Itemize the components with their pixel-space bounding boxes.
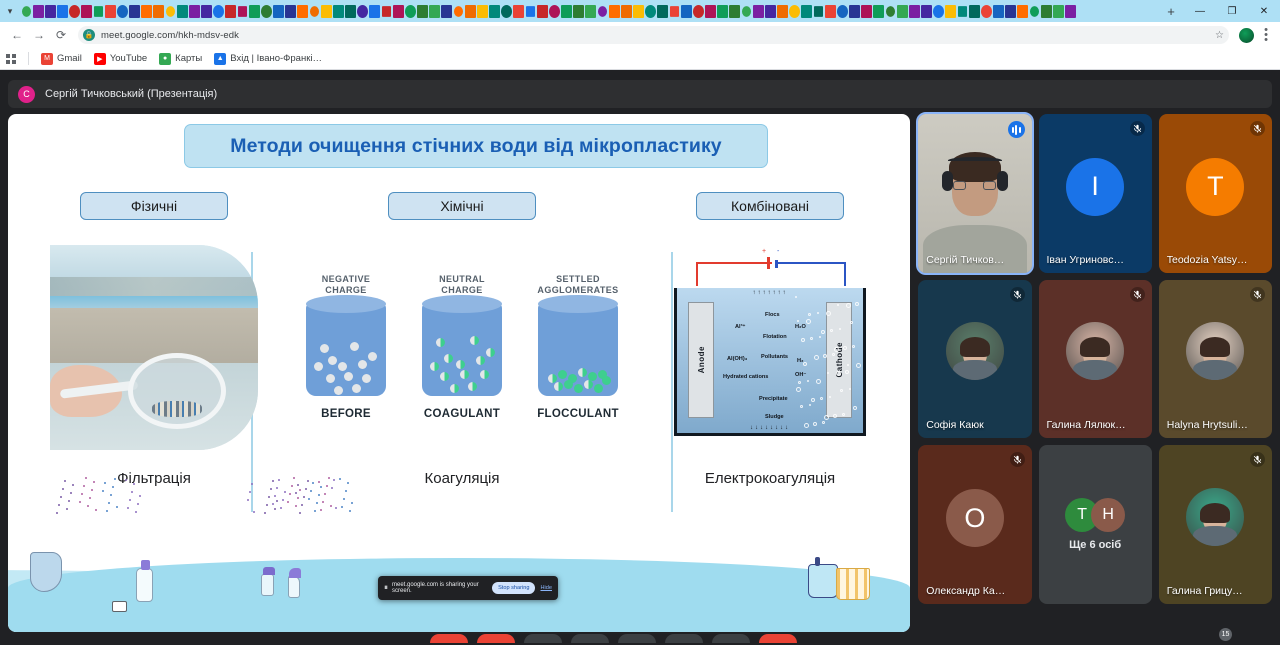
- tab-favicon[interactable]: [645, 5, 656, 18]
- bookmark-youtube[interactable]: ▶ YouTube: [94, 53, 147, 65]
- google-meet-app: С Сергій Тичковський (Презентація) Метод…: [0, 70, 1280, 643]
- bubble: [836, 371, 841, 376]
- sieve-illustration: [128, 353, 226, 429]
- up-arrows: ↑↑↑↑↑↑↑: [677, 290, 863, 296]
- raise-hand-button[interactable]: [665, 634, 703, 643]
- minimize-button[interactable]: —: [1184, 6, 1216, 17]
- captions-button[interactable]: [524, 634, 562, 643]
- tab-favicon[interactable]: [549, 5, 560, 18]
- particle: [470, 336, 479, 345]
- tab-favicon[interactable]: [633, 5, 644, 18]
- bookmark-label: YouTube: [110, 53, 147, 64]
- tab-favicon[interactable]: [141, 5, 152, 18]
- tab-favicon[interactable]: [873, 5, 884, 18]
- tab-favicon[interactable]: [933, 5, 944, 18]
- bubble: [798, 381, 801, 384]
- particle: [430, 362, 439, 371]
- tab-favicon[interactable]: [729, 5, 740, 18]
- tab-favicon[interactable]: [670, 6, 679, 17]
- particle: [468, 382, 477, 391]
- chem-label: Al(OH)₃: [727, 356, 747, 362]
- beaker-bottom-label: FLOCCULANT: [532, 408, 624, 420]
- tab-favicon[interactable]: [814, 6, 823, 17]
- reload-icon[interactable]: ⟳: [50, 24, 72, 46]
- particle: [440, 372, 449, 381]
- tab-favicon[interactable]: [742, 6, 751, 17]
- chem-label: Al³⁺: [735, 324, 745, 330]
- particle: [368, 352, 377, 361]
- tab-favicon[interactable]: [573, 5, 584, 18]
- screen-share-toast[interactable]: ⏸ meet.google.com is sharing your screen…: [378, 576, 558, 600]
- beaker-bottom-label: BEFORE: [300, 408, 392, 420]
- tab-favicon[interactable]: [886, 6, 895, 17]
- tab-favicon[interactable]: [609, 5, 620, 18]
- category-box-chemical: Хімічні: [388, 192, 536, 220]
- chem-label: H₂O: [795, 324, 806, 330]
- beaker-coagulant: NEUTRAL CHARGE COAGULANT: [416, 274, 508, 420]
- leave-call-button[interactable]: [759, 634, 797, 643]
- chem-label: Precipitate: [759, 396, 788, 402]
- tab-favicon[interactable]: [273, 5, 284, 18]
- tab-favicon[interactable]: [717, 5, 728, 18]
- particle: [554, 382, 563, 391]
- chem-label: Pollutants: [761, 354, 788, 360]
- participant-tile[interactable]: ООлександр Кар…: [918, 445, 1031, 604]
- particle: [326, 374, 335, 383]
- chem-label: OH⁻: [795, 372, 806, 378]
- tab-favicon[interactable]: [681, 5, 692, 18]
- tab-favicon[interactable]: [117, 5, 128, 18]
- tab-favicon[interactable]: [261, 5, 272, 18]
- particle: [362, 374, 371, 383]
- tab-favicon[interactable]: [201, 5, 212, 18]
- mic-muted-icon: [1250, 287, 1265, 302]
- particle: [358, 360, 367, 369]
- participant-name: Halyna Hrytsuliak: [1167, 419, 1248, 431]
- presenter-name: Сергій Тичковський (Презентація): [45, 88, 217, 100]
- mic-muted-icon: [1010, 287, 1025, 302]
- particle: [314, 362, 323, 371]
- tab-favicon[interactable]: [1030, 6, 1039, 17]
- tab-favicon[interactable]: [465, 5, 476, 18]
- participant-name: Галина Лялюк-…: [1047, 419, 1128, 431]
- tab-favicon[interactable]: [369, 5, 380, 18]
- maximize-button[interactable]: ❐: [1216, 6, 1248, 17]
- particle: [584, 380, 593, 389]
- gmail-icon: M: [41, 53, 53, 65]
- presenter-avatar: С: [18, 86, 35, 103]
- bubble: [796, 387, 801, 392]
- bubble: [809, 404, 811, 406]
- camera-button[interactable]: [477, 634, 515, 643]
- particle: [320, 344, 329, 353]
- caption-coagulation: Коагуляція: [425, 470, 500, 487]
- tab-favicon[interactable]: [177, 5, 188, 18]
- apps-grid-icon[interactable]: [6, 54, 16, 64]
- bubble: [849, 388, 851, 390]
- bubble: [856, 363, 861, 368]
- tab-favicon[interactable]: [561, 5, 572, 18]
- coagulation-diagram: NEGATIVE CHARGE BEFORE NEUTRAL CHARGE: [300, 246, 624, 448]
- browser-toolbar: ← → ⟳ 🔒 meet.google.com/hkh-mdsv-edk ☆ •…: [0, 22, 1280, 48]
- tab-favicon[interactable]: [849, 5, 860, 18]
- bubble: [837, 304, 839, 306]
- bubble: [800, 405, 803, 408]
- avatar: [1066, 322, 1124, 380]
- particle: [476, 356, 485, 365]
- bubble: [810, 337, 813, 340]
- polarity-minus: -: [777, 248, 779, 255]
- particle: [594, 384, 603, 393]
- bubble: [806, 319, 811, 324]
- audio-active-icon: [1008, 121, 1025, 138]
- circuit-wires: + -: [674, 258, 866, 288]
- tab-favicon[interactable]: [57, 5, 68, 18]
- chem-label: Sludge: [765, 414, 784, 420]
- tab-favicon[interactable]: [501, 5, 512, 18]
- participant-tile[interactable]: TTeodozia Yatsys…: [1159, 114, 1272, 273]
- bookmark-label: Gmail: [57, 53, 82, 64]
- particle: [344, 372, 353, 381]
- overflow-label: Ще 6 осіб: [1069, 539, 1121, 551]
- university-icon: ▲: [214, 53, 226, 65]
- tab-favicon[interactable]: [861, 5, 872, 18]
- tab-favicon[interactable]: [526, 6, 535, 17]
- browser-tab-strip[interactable]: ▾ + — ❐ ✕: [0, 0, 1280, 22]
- bubble: [817, 312, 819, 314]
- tab-favicon[interactable]: [909, 5, 920, 18]
- participant-name: Teodozia Yatsys…: [1167, 254, 1248, 266]
- beaker-bottom-label: COAGULANT: [416, 408, 508, 420]
- bubble: [821, 330, 825, 334]
- meet-stage: Методи очищення стічних води від мікропл…: [0, 114, 1280, 636]
- mic-muted-icon: [1250, 121, 1265, 136]
- bubble: [842, 413, 845, 416]
- caption-filtration: Фільтрація: [117, 470, 191, 487]
- bottle-icon: [136, 568, 153, 602]
- profile-avatar[interactable]: [1239, 28, 1254, 43]
- tab-favicon[interactable]: [1041, 5, 1052, 18]
- tab-favicon[interactable]: [801, 5, 812, 18]
- polarity-plus: +: [762, 248, 766, 255]
- bookmark-label: Вхід | Івано-Франкі…: [230, 53, 322, 64]
- bubble: [819, 336, 821, 338]
- avatar: [946, 322, 1004, 380]
- particle: [444, 354, 453, 363]
- anode-electrode: Anode: [688, 302, 714, 418]
- tab-favicon[interactable]: [705, 5, 716, 18]
- bubble: [824, 415, 829, 420]
- cup-pack-icon: [836, 568, 870, 600]
- tab-favicon[interactable]: [657, 5, 668, 18]
- present-button[interactable]: [618, 634, 656, 643]
- category-box-physical: Фізичні: [80, 192, 228, 220]
- participant-tile[interactable]: Галина Грицуляк: [1159, 445, 1272, 604]
- bubble: [801, 338, 805, 342]
- beaker-before: NEGATIVE CHARGE BEFORE: [300, 274, 392, 420]
- particle: [480, 370, 489, 379]
- chem-label: Hydrated cations: [723, 374, 768, 380]
- bookmark-gmail[interactable]: M Gmail: [41, 53, 82, 65]
- tab-favicon[interactable]: [981, 5, 992, 18]
- particle: [486, 348, 495, 357]
- particle: [456, 360, 465, 369]
- tab-list-chevron-icon[interactable]: ▾: [2, 3, 18, 19]
- shared-slide: Методи очищення стічних води від мікропл…: [8, 114, 910, 632]
- hide-toast-link[interactable]: Hide: [540, 585, 552, 591]
- bubble: [839, 328, 841, 330]
- tab-favicon[interactable]: [1065, 5, 1076, 18]
- bubble: [840, 389, 843, 392]
- tab-favicon[interactable]: [238, 6, 247, 17]
- tab-favicon[interactable]: [897, 5, 908, 18]
- particle: [558, 370, 567, 379]
- participant-name: Олександр Кар…: [926, 585, 1007, 597]
- participant-grid: Сергій Тичковс…ІІван Угриновсь…TTeodozia…: [918, 114, 1272, 604]
- mic-muted-icon: [1130, 121, 1145, 136]
- emoji-button[interactable]: [571, 634, 609, 643]
- tab-favicon[interactable]: [753, 5, 764, 18]
- tab-favicon[interactable]: [81, 5, 92, 18]
- particle: [578, 368, 587, 377]
- slide-title: Методи очищення стічних води від мікропл…: [184, 124, 768, 168]
- bookmark-university-login[interactable]: ▲ Вхід | Івано-Франкі…: [214, 53, 322, 65]
- tab-favicon[interactable]: [333, 5, 344, 18]
- bubble: [807, 380, 809, 382]
- filtration-photo: [50, 245, 258, 450]
- tab-favicon[interactable]: [441, 5, 452, 18]
- tab-favicon[interactable]: [310, 6, 319, 17]
- bubble: [795, 296, 797, 298]
- avatar: О: [946, 489, 1004, 547]
- particle: [602, 376, 611, 385]
- participant-name: Галина Грицуляк: [1167, 585, 1248, 597]
- camera-badge-icon: [112, 601, 127, 612]
- bubble: [845, 370, 849, 374]
- tab-favicon[interactable]: [537, 5, 548, 18]
- beaker-flocculant: SETTLED AGGLOMERATES FLOCCULANT: [532, 274, 624, 420]
- spray-bottle-icon: [288, 576, 300, 598]
- participant-tile[interactable]: Софія Каюк: [918, 280, 1031, 439]
- bubble: [847, 364, 849, 366]
- caption-electrocoagulation: Електрокоагуляція: [705, 470, 835, 487]
- particle: [350, 342, 359, 351]
- bubble: [830, 329, 833, 332]
- tab-favicon[interactable]: [129, 5, 140, 18]
- tab-favicon[interactable]: [382, 6, 391, 17]
- avatar: [1186, 488, 1244, 546]
- close-button[interactable]: ✕: [1248, 6, 1280, 17]
- tab-favicon[interactable]: [357, 5, 368, 18]
- tab-favicon[interactable]: [945, 5, 956, 18]
- avatar: Н: [1091, 498, 1125, 532]
- bubble: [814, 355, 819, 360]
- bubble: [827, 372, 829, 374]
- tab-favicon[interactable]: [585, 5, 596, 18]
- electrocoagulation-diagram: + - Anode Cathode Al³⁺Al(OH)₃Hydra: [674, 246, 866, 448]
- bubble: [829, 396, 831, 398]
- people-count-badge[interactable]: 15: [1219, 628, 1232, 641]
- participant-tile[interactable]: ІІван Угриновсь…: [1039, 114, 1152, 273]
- tab-favicon[interactable]: [765, 5, 776, 18]
- tab-favicon[interactable]: [405, 5, 416, 18]
- tab-favicon[interactable]: [189, 5, 200, 18]
- tab-favicon[interactable]: [598, 6, 607, 17]
- avatar: І: [1066, 158, 1124, 216]
- particle: [338, 362, 347, 371]
- bubble: [811, 398, 815, 402]
- window-controls[interactable]: — ❐ ✕: [1184, 6, 1280, 17]
- bookmark-maps[interactable]: ● Карты: [159, 53, 202, 65]
- chrome-menu-icon[interactable]: •••: [1258, 28, 1274, 43]
- share-message: meet.google.com is sharing your screen.: [392, 582, 487, 594]
- bubble: [822, 421, 825, 424]
- tab-favicon[interactable]: [489, 5, 500, 18]
- electrolysis-tank: Anode Cathode Al³⁺Al(OH)₃Hydrated cation…: [674, 288, 866, 436]
- chem-label: Flotation: [763, 334, 787, 340]
- url-text: meet.google.com/hkh-mdsv-edk: [101, 30, 239, 41]
- down-arrows: ↓↓↓↓↓↓↓↓: [677, 425, 863, 431]
- participant-name: Сергій Тичковс…: [926, 254, 1007, 266]
- tab-favicon[interactable]: [393, 5, 404, 18]
- bubble: [833, 414, 837, 418]
- tab-favicon[interactable]: [1017, 5, 1028, 18]
- stop-sharing-button[interactable]: Stop sharing: [492, 582, 535, 594]
- column-chemical: Хімічні NEGATIVE CHARGE BEFORE: [300, 192, 624, 522]
- bubble: [855, 302, 859, 306]
- tab-favicon[interactable]: [225, 5, 236, 18]
- tab-favicon[interactable]: [1005, 5, 1016, 18]
- tab-favicon[interactable]: [921, 5, 932, 18]
- bubble: [834, 347, 839, 352]
- bubble: [832, 353, 835, 356]
- bubble: [850, 321, 853, 324]
- tab-favicon[interactable]: [166, 6, 175, 17]
- tab-favicon[interactable]: [297, 5, 308, 18]
- youtube-icon: ▶: [94, 53, 106, 65]
- tab-favicon[interactable]: [94, 6, 103, 17]
- tab-favicon[interactable]: [513, 5, 524, 18]
- particle: [352, 384, 361, 393]
- pause-icon[interactable]: ⏸: [384, 583, 387, 593]
- bookmarks-divider: [28, 52, 29, 65]
- tab-favicon[interactable]: [693, 5, 704, 18]
- participant-name: Іван Угриновсь…: [1047, 254, 1128, 266]
- particle: [574, 384, 583, 393]
- cathode-electrode: Cathode: [826, 302, 852, 418]
- bubble: [843, 346, 847, 350]
- tab-favicon-list[interactable]: [21, 5, 1158, 18]
- column-physical: Фізичні Фільтрація: [8, 192, 300, 522]
- tab-favicon[interactable]: [45, 5, 56, 18]
- participant-tile[interactable]: ТНЩе 6 осіб: [1039, 445, 1152, 604]
- tab-favicon[interactable]: [22, 6, 31, 17]
- tab-favicon[interactable]: [477, 5, 488, 18]
- tab-favicon[interactable]: [777, 5, 788, 18]
- participant-name: Софія Каюк: [926, 419, 1007, 431]
- bubble: [808, 313, 811, 316]
- spray-bottle-icon: [261, 574, 274, 596]
- filtration-photo-wrap: [50, 246, 258, 448]
- category-box-combined: Комбіновані: [696, 192, 844, 220]
- bucket-icon: [808, 564, 838, 598]
- participant-tile[interactable]: Галина Лялюк-…: [1039, 280, 1152, 439]
- bookmark-label: Карты: [175, 53, 202, 64]
- participant-tile[interactable]: Halyna Hrytsuliak: [1159, 280, 1272, 439]
- meet-control-bar[interactable]: [430, 634, 797, 643]
- tab-favicon[interactable]: [417, 5, 428, 18]
- overflow-avatars: ТН: [1065, 498, 1125, 532]
- particle: [334, 386, 343, 395]
- tab-favicon[interactable]: [153, 5, 164, 18]
- mic-muted-icon: [1250, 452, 1265, 467]
- tab-favicon[interactable]: [345, 5, 356, 18]
- tab-favicon[interactable]: [789, 5, 800, 18]
- tab-favicon[interactable]: [249, 5, 260, 18]
- tab-favicon[interactable]: [454, 6, 463, 17]
- bookmark-star-icon[interactable]: ☆: [1215, 30, 1224, 41]
- tab-favicon[interactable]: [958, 6, 967, 17]
- avatar: T: [1186, 158, 1244, 216]
- bubble: [826, 311, 831, 316]
- column-combined: Комбіновані + - Anode: [624, 192, 910, 522]
- bubble: [846, 303, 851, 308]
- particle: [564, 380, 573, 389]
- mic-muted-icon: [1010, 452, 1025, 467]
- tab-favicon[interactable]: [69, 5, 80, 18]
- tab-favicon[interactable]: [1053, 5, 1064, 18]
- new-tab-button[interactable]: +: [1158, 4, 1184, 19]
- address-bar[interactable]: 🔒 meet.google.com/hkh-mdsv-edk ☆: [78, 26, 1229, 44]
- bubble: [823, 354, 827, 358]
- particle: [436, 338, 445, 347]
- bubble: [852, 345, 855, 348]
- bubble: [803, 362, 807, 366]
- chem-label: Flocs: [765, 312, 780, 318]
- maps-icon: ●: [159, 53, 171, 65]
- tab-favicon[interactable]: [285, 5, 296, 18]
- tab-favicon[interactable]: [105, 5, 116, 18]
- tab-favicon[interactable]: [993, 5, 1004, 18]
- tab-favicon[interactable]: [213, 5, 224, 18]
- forward-icon[interactable]: →: [28, 24, 50, 46]
- bubble: [820, 397, 823, 400]
- more-options-button[interactable]: [712, 634, 750, 643]
- mic-muted-icon: [1130, 287, 1145, 302]
- avatar: [1186, 322, 1244, 380]
- microphone-button[interactable]: [430, 634, 468, 643]
- tab-favicon[interactable]: [825, 5, 836, 18]
- particle: [460, 370, 469, 379]
- tab-favicon[interactable]: [429, 5, 440, 18]
- back-icon[interactable]: ←: [6, 24, 28, 46]
- plastic-bag-icon: [30, 552, 62, 592]
- particle: [328, 356, 337, 365]
- tab-favicon[interactable]: [837, 5, 848, 18]
- particle: [450, 384, 459, 393]
- tab-favicon[interactable]: [321, 5, 332, 18]
- tab-favicon[interactable]: [969, 5, 980, 18]
- slide-columns: Фізичні Фільтрація Хімічні: [8, 192, 910, 522]
- site-info-icon[interactable]: 🔒: [83, 29, 95, 41]
- participant-tile[interactable]: Сергій Тичковс…: [918, 114, 1031, 273]
- bubble: [797, 320, 799, 322]
- tab-favicon[interactable]: [33, 5, 44, 18]
- bookmarks-bar: M Gmail ▶ YouTube ● Карты ▲ Вхід | Івано…: [0, 48, 1280, 70]
- bubble: [816, 379, 821, 384]
- tab-favicon[interactable]: [621, 5, 632, 18]
- bubble: [853, 406, 857, 410]
